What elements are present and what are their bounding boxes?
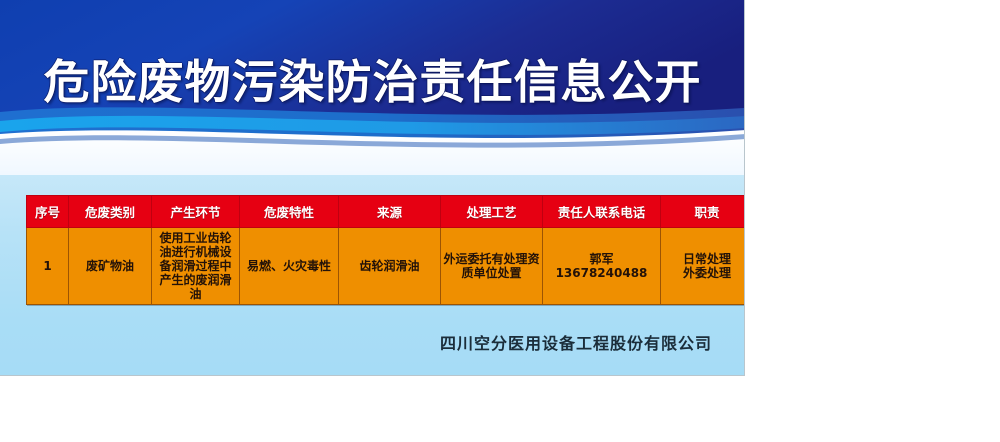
column-header-responsible-person-phone: 责任人联系电话 <box>543 196 661 228</box>
cell-waste-characteristics: 易燃、火灾毒性 <box>240 228 339 305</box>
cell-source: 齿轮润滑油 <box>339 228 441 305</box>
page-title: 危险废物污染防治责任信息公开 <box>0 46 745 112</box>
column-header-waste-characteristics: 危废特性 <box>240 196 339 228</box>
table-row: 1 废矿物油 使用工业齿轮油进行机械设备润滑过程中产生的废润滑油 易燃、火灾毒性… <box>27 228 746 305</box>
company-name: 四川空分医用设备工程股份有限公司 <box>0 330 712 354</box>
column-header-waste-category: 危废类别 <box>69 196 152 228</box>
cell-serial-number: 1 <box>27 228 69 305</box>
table-header-row: 序号 危废类别 产生环节 危废特性 来源 处理工艺 责任人联系电话 职责 <box>27 196 746 228</box>
cell-generation-stage: 使用工业齿轮油进行机械设备润滑过程中产生的废润滑油 <box>152 228 240 305</box>
hazardous-waste-table: 序号 危废类别 产生环节 危废特性 来源 处理工艺 责任人联系电话 职责 1 废… <box>26 195 745 305</box>
column-header-serial-number: 序号 <box>27 196 69 228</box>
column-header-generation-stage: 产生环节 <box>152 196 240 228</box>
column-header-treatment-process: 处理工艺 <box>441 196 543 228</box>
column-header-duty: 职责 <box>661 196 746 228</box>
information-disclosure-poster: 危险废物污染防治责任信息公开 序号 危废类别 产生环节 危废特性 来源 处理工艺… <box>0 0 745 376</box>
table-body: 1 废矿物油 使用工业齿轮油进行机械设备润滑过程中产生的废润滑油 易燃、火灾毒性… <box>27 228 746 305</box>
cell-responsible-person-phone: 郭军 13678240488 <box>543 228 661 305</box>
cell-waste-category: 废矿物油 <box>69 228 152 305</box>
table-header: 序号 危废类别 产生环节 危废特性 来源 处理工艺 责任人联系电话 职责 <box>27 196 746 228</box>
cell-treatment-process: 外运委托有处理资质单位处置 <box>441 228 543 305</box>
cell-duty: 日常处理 外委处理 <box>661 228 746 305</box>
column-header-source: 来源 <box>339 196 441 228</box>
